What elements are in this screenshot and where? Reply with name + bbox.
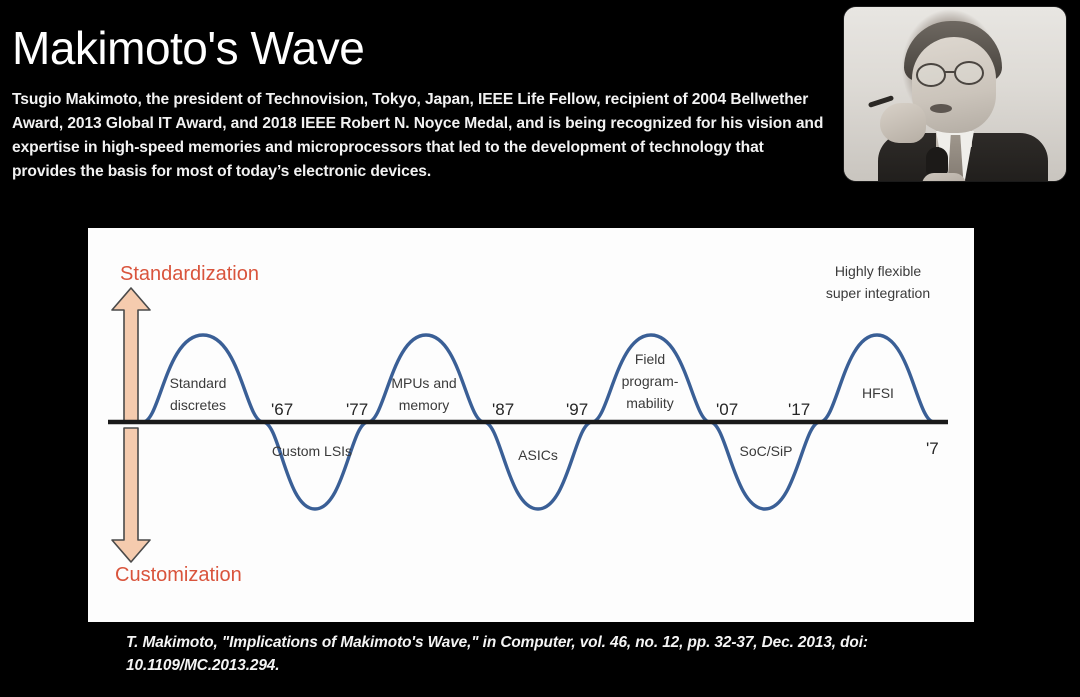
year-label-97: '97 [566, 400, 588, 419]
label-mpus-line2: memory [399, 397, 450, 413]
label-asics: ASICs [518, 447, 558, 463]
label-field-line2: program- [622, 373, 679, 389]
label-field-line3: mability [626, 395, 673, 411]
year-label-07: '07 [716, 400, 738, 419]
portrait-glasses-right [954, 61, 984, 85]
label-field-line1: Field [635, 351, 665, 367]
slide-header: Makimoto's Wave Tsugio Makimoto, the pre… [0, 0, 1080, 205]
citation-text: T. Makimoto, "Implications of Makimoto's… [126, 632, 916, 678]
portrait-raised-hand [880, 103, 926, 143]
label-standard-discretes-line1: Standard [170, 375, 227, 391]
label-hfsi-callout-line1: Highly flexible [835, 263, 922, 279]
slide-subtitle: Tsugio Makimoto, the president of Techno… [12, 88, 824, 183]
label-hfsi-callout-line2: super integration [826, 285, 930, 301]
portrait-glasses-bridge [945, 71, 956, 73]
portrait-mouth [930, 104, 952, 113]
customization-label: Customization [115, 564, 242, 586]
portrait-image [844, 7, 1066, 181]
label-soc-sip: SoC/SiP [740, 443, 793, 459]
label-standard-discretes-line2: discretes [170, 397, 226, 413]
standardization-arrow-icon [112, 288, 150, 422]
year-label-7: '7 [926, 439, 939, 458]
year-label-67: '67 [271, 400, 293, 419]
label-hfsi: HFSI [862, 385, 894, 401]
customization-arrow-icon [112, 428, 150, 562]
page-title: Makimoto's Wave [12, 24, 364, 72]
year-label-87: '87 [492, 400, 514, 419]
portrait-holding-hand [922, 173, 966, 181]
year-label-17: '17 [788, 400, 810, 419]
portrait-glasses-left [916, 63, 946, 87]
year-label-77: '77 [346, 400, 368, 419]
label-mpus-line1: MPUs and [391, 375, 456, 391]
makimotos-wave-figure: Standardization Customization Standard d… [88, 228, 974, 622]
standardization-label: Standardization [120, 263, 259, 285]
wave-chart-svg: Standardization Customization Standard d… [88, 228, 974, 622]
portrait-photo [844, 7, 1066, 181]
label-custom-lsis: Custom LSIs [272, 443, 352, 459]
